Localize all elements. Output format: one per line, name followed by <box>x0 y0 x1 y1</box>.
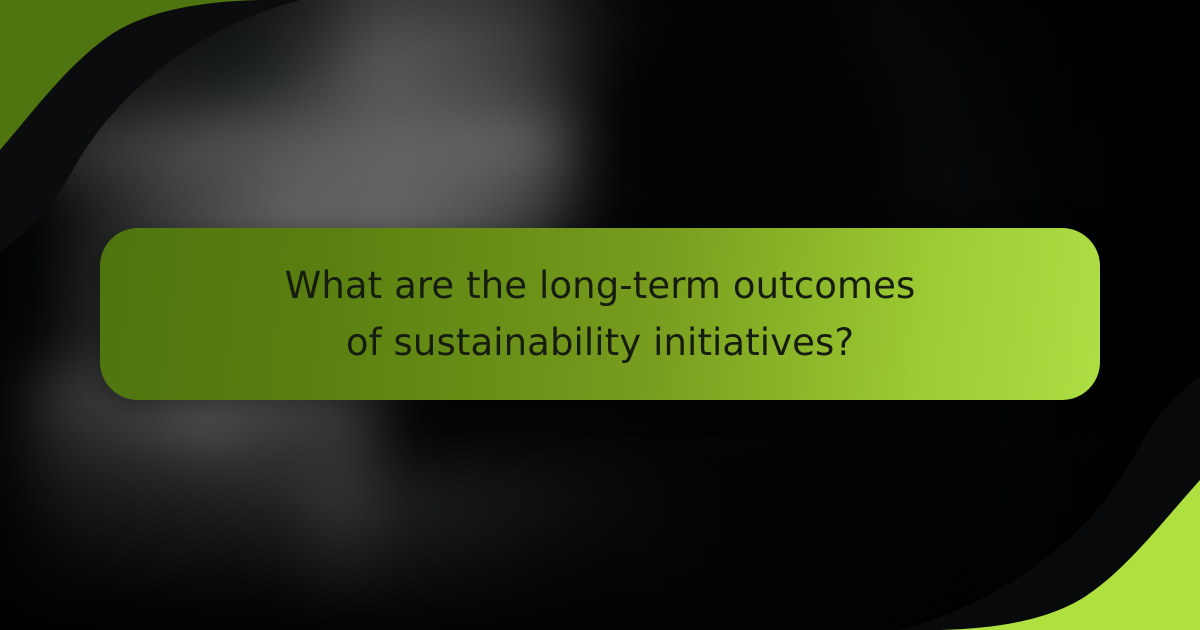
corner-swoosh-top-left <box>0 0 300 260</box>
question-banner: What are the long-term outcomes of susta… <box>100 228 1100 400</box>
question-card: What are the long-term outcomes of susta… <box>0 0 1200 630</box>
corner-swoosh-bottom-right <box>900 370 1200 630</box>
question-text: What are the long-term outcomes of susta… <box>224 257 976 372</box>
